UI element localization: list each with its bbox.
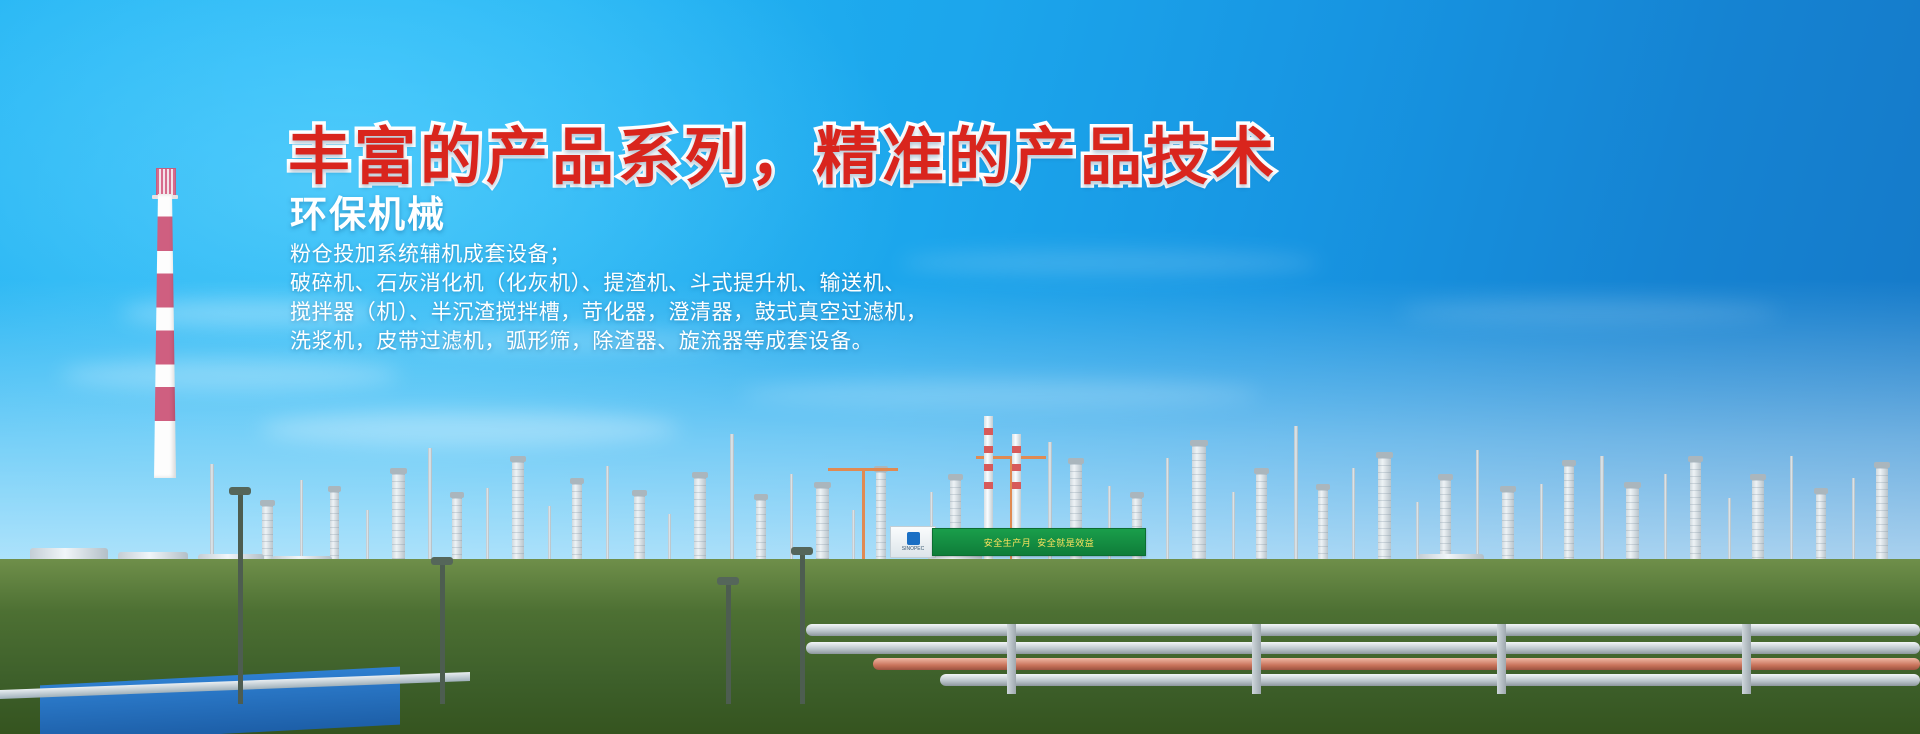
street-lamp	[440, 564, 445, 704]
street-lamp	[800, 554, 805, 704]
chimney-cap	[156, 168, 176, 198]
cloud	[900, 250, 1320, 276]
hero-banner: SINOPEC 安全生产月 安全就是效益 丰富的产品系列，精准的产品技术 环保机…	[0, 0, 1920, 734]
foreground-pipeline	[806, 594, 1920, 704]
street-lamp	[238, 494, 243, 704]
street-lamp	[726, 584, 731, 704]
